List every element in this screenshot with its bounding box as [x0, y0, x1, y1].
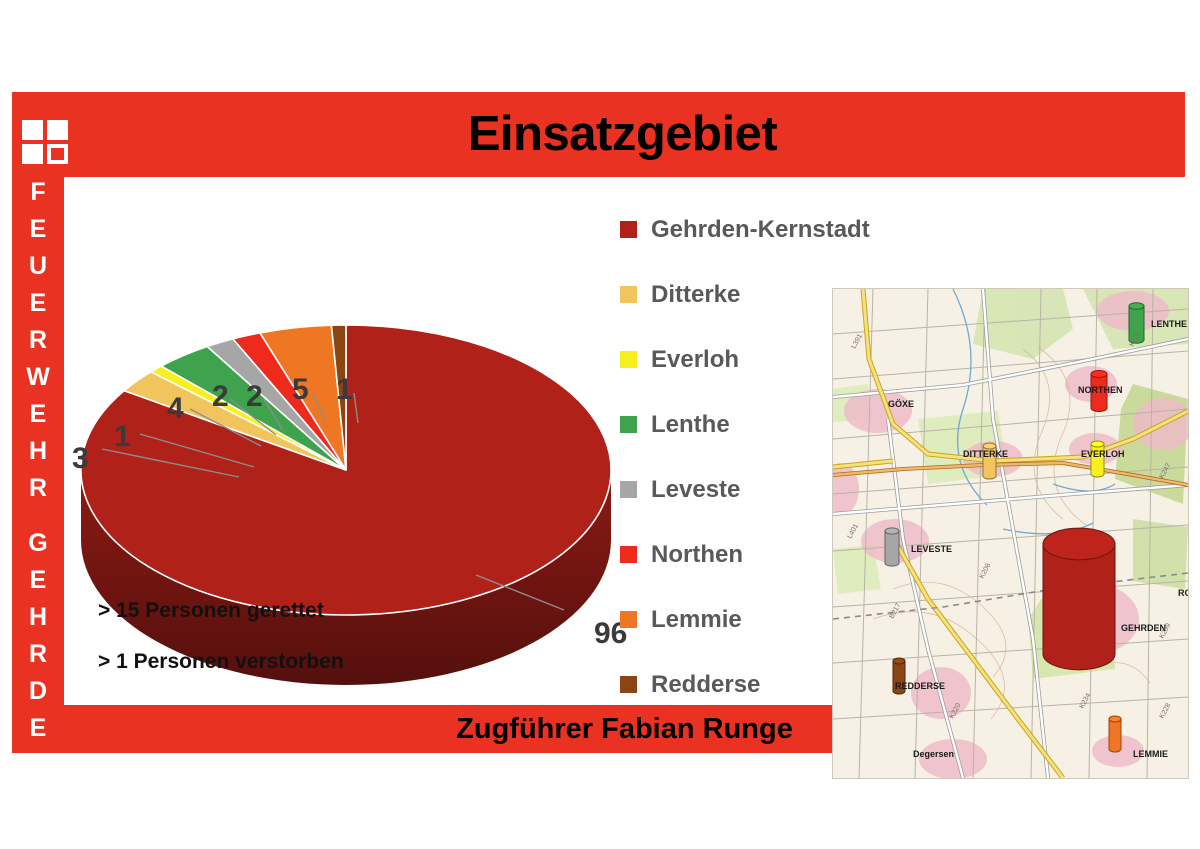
pie-data-label: 5	[292, 373, 309, 407]
brand-letter-gap	[12, 507, 64, 525]
legend-swatch	[620, 481, 637, 498]
legend-label: Lenthe	[651, 411, 730, 439]
legend-item[interactable]: Everloh	[620, 327, 860, 392]
legend-swatch	[620, 611, 637, 628]
legend-label: Lemmie	[651, 606, 742, 634]
map-place-label: DITTERKE	[963, 449, 1008, 459]
slide-frame: Einsatzgebiet FEUERWEHRGEHRDEN	[12, 92, 1185, 753]
brand-letter: R	[12, 470, 64, 507]
legend-swatch	[620, 221, 637, 238]
legend-item[interactable]: Lemmie	[620, 587, 860, 652]
brand-letter: H	[12, 433, 64, 470]
map-marker[interactable]	[885, 528, 899, 566]
brand-letter: F	[12, 174, 64, 211]
brand-letter: W	[12, 359, 64, 396]
map-marker[interactable]	[1091, 441, 1104, 477]
legend-label: Everloh	[651, 346, 739, 374]
brand-letter: E	[12, 562, 64, 599]
pie-data-label: 1	[114, 420, 131, 454]
brand-letter: N	[12, 747, 64, 784]
map-place-label: GÖXE	[888, 399, 914, 409]
legend-item[interactable]: Northen	[620, 522, 860, 587]
map-place-label: LENTHE	[1151, 319, 1187, 329]
legend-label: Northen	[651, 541, 743, 569]
map-place-label: NORTHEN	[1078, 385, 1123, 395]
map-place-label: GEHRDEN	[1121, 623, 1166, 633]
legend-item[interactable]: Lenthe	[620, 392, 860, 457]
brand-vertical-text: FEUERWEHRGEHRDEN	[12, 174, 64, 784]
notes-block: > 15 Personen gerettet> 1 Personen verst…	[98, 599, 344, 701]
brand-letter: E	[12, 285, 64, 322]
map-place-label: EVERLOH	[1081, 449, 1125, 459]
page-title: Einsatzgebiet	[12, 106, 1185, 162]
legend-swatch	[620, 416, 637, 433]
legend-swatch	[620, 351, 637, 368]
legend-label: Redderse	[651, 671, 760, 699]
brand-letter: U	[12, 248, 64, 285]
content-panel: 963142251 Gehrden-KernstadtDitterkeEverl…	[64, 177, 1185, 705]
brand-letter: R	[12, 636, 64, 673]
map-marker[interactable]	[1043, 528, 1115, 670]
pie-data-label: 2	[212, 380, 229, 414]
brand-letter: G	[12, 525, 64, 562]
title-bar: Einsatzgebiet	[12, 92, 1185, 177]
legend-item[interactable]: Leveste	[620, 457, 860, 522]
legend-swatch	[620, 546, 637, 563]
legend-swatch	[620, 286, 637, 303]
legend-label: Gehrden-Kernstadt	[651, 216, 870, 244]
note-line: > 1 Personen verstorben	[98, 650, 344, 674]
brand-letter: R	[12, 322, 64, 359]
brand-letter: E	[12, 710, 64, 747]
pie-data-label: 4	[167, 392, 184, 426]
footer-bar: Zugführer Fabian Runge	[64, 705, 1185, 753]
brand-letter: E	[12, 396, 64, 433]
map-place-label: LEVESTE	[911, 544, 952, 554]
four-squares-icon	[22, 120, 70, 166]
pie-data-label: 2	[246, 380, 263, 414]
legend-swatch	[620, 676, 637, 693]
pie-data-label: 3	[72, 442, 89, 476]
brand-sidebar: FEUERWEHRGEHRDEN	[12, 92, 64, 753]
map-place-label: RO	[1178, 588, 1188, 598]
pie-data-label: 1	[336, 373, 353, 407]
legend-item[interactable]: Gehrden-Kernstadt	[620, 197, 860, 262]
legend-label: Ditterke	[651, 281, 740, 309]
chart-legend: Gehrden-KernstadtDitterkeEverlohLentheLe…	[620, 197, 860, 717]
brand-letter: H	[12, 599, 64, 636]
note-line: > 15 Personen gerettet	[98, 599, 344, 623]
brand-letter: D	[12, 673, 64, 710]
brand-letter: E	[12, 211, 64, 248]
footer-text: Zugführer Fabian Runge	[456, 713, 793, 746]
legend-label: Leveste	[651, 476, 740, 504]
map-place-label: REDDERSE	[895, 681, 945, 691]
legend-item[interactable]: Ditterke	[620, 262, 860, 327]
